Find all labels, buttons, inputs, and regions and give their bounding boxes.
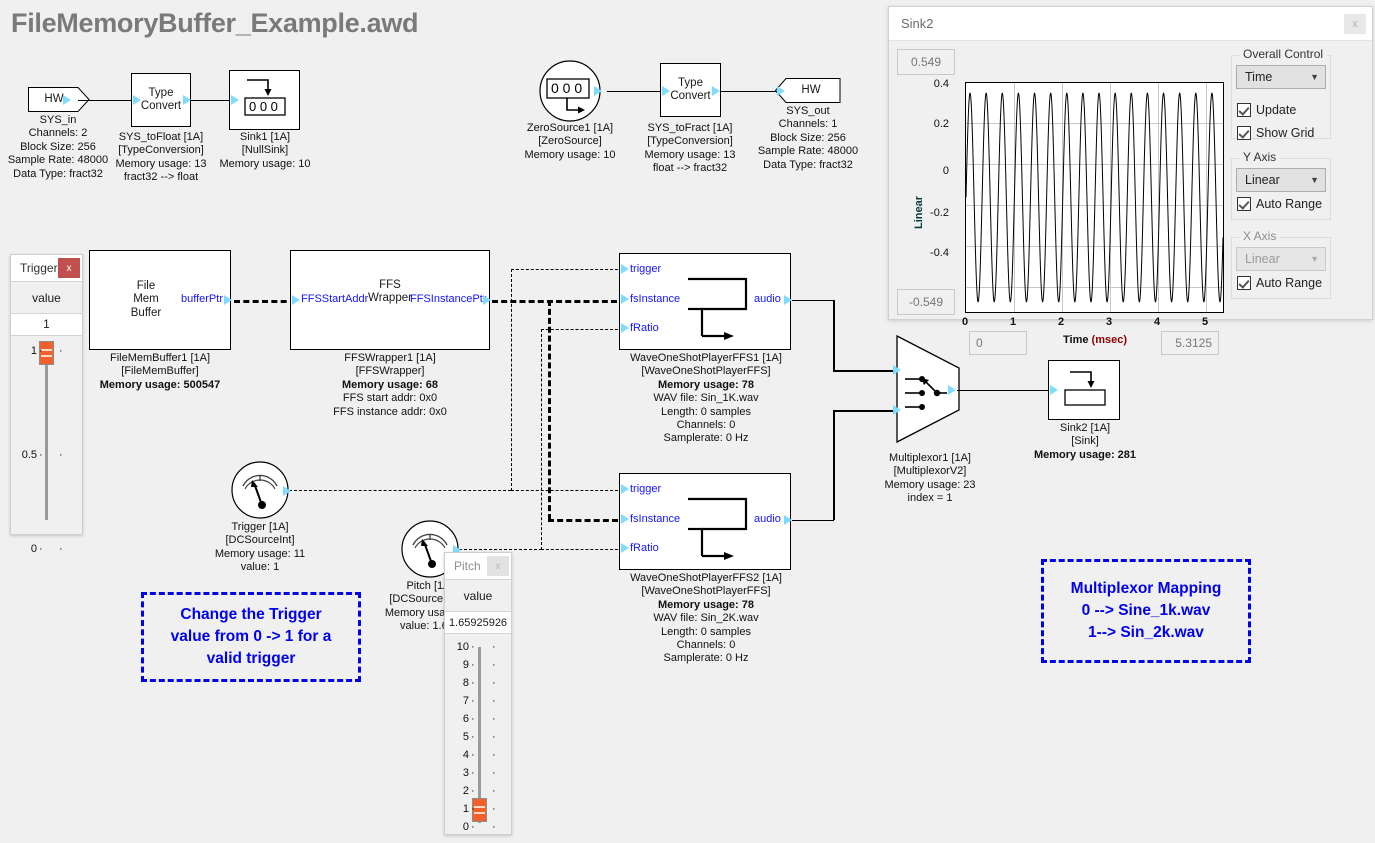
pitch-dot-1r: · bbox=[492, 803, 496, 815]
checkbox-y-auto-range[interactable]: Auto Range bbox=[1237, 197, 1322, 211]
overall-control-mode-value: Time bbox=[1245, 70, 1272, 84]
zerosource1-output-port[interactable] bbox=[594, 86, 602, 96]
sys-tofloat-input-port[interactable] bbox=[133, 95, 141, 105]
scope-ytick-0.2: 0.2 bbox=[917, 118, 949, 130]
sys-tofract-input-port[interactable] bbox=[662, 86, 670, 96]
trigger-source-output-port[interactable] bbox=[283, 486, 291, 496]
pitch-slider-panel[interactable]: Pitch x value 1.65925926 10 · · 9 · · 8 … bbox=[444, 552, 512, 835]
pitch-dot-4l: · bbox=[471, 749, 475, 761]
trigger-value-header: value bbox=[11, 281, 82, 314]
wire-wp2-audio-c bbox=[833, 410, 895, 412]
port-label-wp2-audio: audio bbox=[754, 513, 781, 525]
scope-xtick-5: 5 bbox=[1191, 316, 1219, 328]
wire-pitch-to-wp2 bbox=[541, 549, 618, 550]
trigger-tick-3: 0 bbox=[11, 543, 37, 555]
sys-tofract-label-1: Type bbox=[670, 77, 710, 90]
wire-wp1-audio-b bbox=[833, 300, 835, 372]
caption-waveplayer2: WaveOneShotPlayerFFS2 [1A] [WaveOneShotP… bbox=[620, 572, 792, 666]
scope-plot-area[interactable] bbox=[965, 82, 1224, 313]
page-title: FileMemoryBuffer_Example.awd bbox=[11, 8, 418, 39]
port-label-bufferptr: bufferPtr bbox=[181, 293, 223, 305]
show-grid-checkbox-label: Show Grid bbox=[1256, 126, 1314, 140]
pitch-panel-title: Pitch bbox=[454, 559, 481, 573]
checkbox-x-auto-range[interactable]: Auto Range bbox=[1237, 276, 1322, 290]
trigger-panel-titlebar: Trigger x bbox=[11, 255, 82, 281]
update-checkbox-label: Update bbox=[1256, 103, 1296, 117]
caption-zerosource1: ZeroSource1 [1A] [ZeroSource] Memory usa… bbox=[508, 122, 632, 162]
show-grid-checkbox-box[interactable] bbox=[1237, 126, 1251, 140]
note-trigger: Change the Trigger value from 0 -> 1 for… bbox=[141, 592, 361, 682]
pitch-dot-9r: · bbox=[492, 659, 496, 671]
y-axis-scale-value: Linear bbox=[1245, 173, 1280, 187]
chevron-down-icon-yaxis: ▼ bbox=[1310, 175, 1319, 185]
sys-tofloat-output-port[interactable] bbox=[183, 95, 191, 105]
filemembuffer1-output-port[interactable] bbox=[224, 295, 232, 305]
pitch-tick-8: 8 bbox=[445, 677, 469, 689]
trigger-panel-close-button[interactable]: x bbox=[58, 258, 80, 278]
trigger-tick-dot-3l: · bbox=[39, 543, 43, 555]
wire-wp1-audio-a bbox=[792, 300, 834, 302]
scope-xtick-2: 2 bbox=[1047, 316, 1075, 328]
scope-titlebar: Sink2 x bbox=[889, 7, 1372, 41]
scope-xtick-0: 0 bbox=[951, 316, 979, 328]
sys-in-output-port[interactable] bbox=[63, 95, 71, 105]
y-axis-scale-select[interactable]: Linear ▼ bbox=[1236, 168, 1326, 192]
pitch-tick-6: 6 bbox=[445, 713, 469, 725]
pitch-dot-10r: · bbox=[492, 641, 496, 653]
pitch-dot-0l: · bbox=[471, 821, 475, 833]
pitch-tick-7: 7 bbox=[445, 695, 469, 707]
scope-ytick-0: 0 bbox=[917, 165, 949, 177]
sys-out-label: HW bbox=[786, 84, 836, 96]
wire-trigger-v bbox=[511, 269, 512, 491]
overall-control-mode-select[interactable]: Time ▼ bbox=[1236, 65, 1326, 89]
sys-in-label: HW bbox=[28, 93, 80, 105]
ffswrapper1-output-port[interactable] bbox=[483, 295, 491, 305]
x-axis-scale-value: Linear bbox=[1245, 252, 1280, 266]
block-sink1[interactable]: 0 0 0 bbox=[229, 70, 300, 130]
scope-ytick--0.2: -0.2 bbox=[913, 207, 949, 219]
trigger-tick-2: 0.5 bbox=[11, 449, 37, 461]
port-label-wp1-fsinstance: fsInstance bbox=[630, 293, 680, 305]
pitch-panel-titlebar: Pitch x bbox=[445, 553, 511, 579]
sys-tofract-label-2: Convert bbox=[670, 90, 710, 103]
ffswrapper1-input-port[interactable] bbox=[292, 295, 300, 305]
caption-filemembuffer1: FileMemBuffer1 [1A] [FileMemBuffer] Memo… bbox=[90, 352, 230, 392]
wire-pitch-h1 bbox=[459, 549, 542, 550]
sys-tofract-output-port[interactable] bbox=[712, 86, 720, 96]
pitch-tick-0: 0 bbox=[445, 821, 469, 833]
pitch-tick-10: 10 bbox=[445, 641, 469, 653]
port-label-wp1-fratio: fRatio bbox=[630, 322, 659, 334]
x-axis-scale-select: Linear ▼ bbox=[1236, 247, 1326, 271]
pitch-value-field[interactable]: 1.65925926 bbox=[445, 612, 511, 634]
pitch-dot-1l: · bbox=[471, 803, 475, 815]
scope-waveform-svg bbox=[966, 83, 1223, 312]
checkbox-show-grid[interactable]: Show Grid bbox=[1237, 126, 1314, 140]
pitch-dot-2r: · bbox=[492, 785, 496, 797]
sys-out-input-port[interactable] bbox=[777, 86, 785, 96]
caption-multiplexor1: Multiplexor1 [1A] [MultiplexorV2] Memory… bbox=[868, 452, 992, 506]
scope-x-axis-label: Time (msec) bbox=[1035, 334, 1155, 346]
trigger-tick-dot-2r: · bbox=[59, 449, 63, 461]
waveplayer1-fsinstance-port[interactable] bbox=[621, 294, 629, 304]
pitch-tick-9: 9 bbox=[445, 659, 469, 671]
group-y-axis-title: Y Axis bbox=[1239, 150, 1280, 164]
caption-sys-in: SYS_in Channels: 2 Block Size: 256 Sampl… bbox=[0, 114, 116, 181]
waveplayer2-trigger-port[interactable] bbox=[621, 484, 629, 494]
scope-trace bbox=[966, 93, 1223, 302]
multiplexor-output-port[interactable] bbox=[948, 385, 956, 395]
trigger-slider[interactable]: 1 · · 0.5 · · 0 · · bbox=[11, 336, 82, 534]
pitch-dot-0r: · bbox=[492, 821, 496, 833]
pitch-dot-3r: · bbox=[492, 767, 496, 779]
waveplayer1-fratio-port[interactable] bbox=[621, 323, 629, 333]
sys-tofloat-label-2: Convert bbox=[141, 100, 181, 113]
port-label-wp2-fsinstance: fsInstance bbox=[630, 513, 680, 525]
wire-tofract-sysout bbox=[721, 91, 778, 93]
caption-sink2: Sink2 [1A] [Sink] Memory usage: 281 bbox=[1026, 422, 1144, 462]
pitch-tick-1: 1 bbox=[445, 803, 469, 815]
pitch-dot-5l: · bbox=[471, 731, 475, 743]
sink1-input-port[interactable] bbox=[231, 95, 239, 105]
y-auto-range-checkbox-box[interactable] bbox=[1237, 197, 1251, 211]
waveplayer2-fratio-port[interactable] bbox=[621, 543, 629, 553]
caption-sink1: Sink1 [1A] [NullSink] Memory usage: 10 bbox=[206, 131, 324, 171]
zerosource-icon: 0 0 0 bbox=[539, 60, 601, 122]
wire-ffsinst-branch2 bbox=[548, 519, 618, 522]
port-label-wp1-audio: audio bbox=[754, 293, 781, 305]
pitch-tick-3: 3 bbox=[445, 767, 469, 779]
caption-trigger-source: Trigger [1A] [DCSourceInt] Memory usage:… bbox=[200, 521, 320, 575]
scope-ytick--0.4: -0.4 bbox=[913, 247, 949, 259]
group-x-axis-title: X Axis bbox=[1239, 229, 1280, 243]
pitch-dot-7r: · bbox=[492, 695, 496, 707]
gauge-icon-trigger bbox=[231, 461, 289, 519]
caption-waveplayer1: WaveOneShotPlayerFFS1 [1A] [WaveOneShotP… bbox=[620, 352, 792, 446]
pitch-dot-7l: · bbox=[471, 695, 475, 707]
trigger-tick-dot-3r: · bbox=[59, 543, 63, 555]
scope-window-sink2[interactable]: Sink2 x 0.549 -0.549 0 5.3125 Linear 0.4… bbox=[888, 6, 1373, 320]
sys-tofloat-label-1: Type bbox=[141, 87, 181, 100]
pitch-dot-6r: · bbox=[492, 713, 496, 725]
pitch-tick-2: 2 bbox=[445, 785, 469, 797]
wire-ffsinst-down bbox=[548, 300, 551, 520]
sink2-input-port[interactable] bbox=[1050, 385, 1058, 395]
pitch-dot-8r: · bbox=[492, 677, 496, 689]
wire-trigger-to-wp2 bbox=[511, 490, 618, 491]
scope-xtick-4: 4 bbox=[1143, 316, 1171, 328]
scope-xtick-3: 3 bbox=[1095, 316, 1123, 328]
wire-trigger-h1 bbox=[289, 490, 511, 491]
note-multiplexor-mapping: Multiplexor Mapping 0 --> Sine_1k.wav 1-… bbox=[1041, 559, 1251, 663]
scope-y-max-readout[interactable]: 0.549 bbox=[897, 49, 955, 75]
scope-y-min-readout[interactable]: -0.549 bbox=[897, 289, 955, 315]
pitch-tick-5: 5 bbox=[445, 731, 469, 743]
wire-pitch-v bbox=[541, 329, 542, 550]
pitch-value-header: value bbox=[445, 579, 511, 612]
wire-wp2-audio-a bbox=[792, 520, 834, 522]
svg-text:0 0 0: 0 0 0 bbox=[551, 80, 582, 96]
multiplexor-input1-port[interactable] bbox=[893, 365, 901, 375]
pitch-dot-6l: · bbox=[471, 713, 475, 725]
port-label-ffsstartaddr: FFSStartAddr bbox=[301, 293, 368, 305]
x-auto-range-checkbox-label: Auto Range bbox=[1256, 276, 1322, 290]
wire-sysin-tofloat bbox=[78, 100, 134, 102]
pitch-dot-10l: · bbox=[471, 641, 475, 653]
caption-sys-tofloat: SYS_toFloat [1A] [TypeConversion] Memory… bbox=[100, 131, 222, 185]
svg-text:0 0 0: 0 0 0 bbox=[249, 99, 278, 114]
port-label-wp2-fratio: fRatio bbox=[630, 542, 659, 554]
pitch-dot-5r: · bbox=[492, 731, 496, 743]
chevron-down-icon-overall: ▼ bbox=[1310, 72, 1319, 82]
block-sink2[interactable] bbox=[1048, 360, 1120, 420]
scope-x-max-readout[interactable]: 5.3125 bbox=[1161, 331, 1219, 355]
trigger-tick-1: 1 bbox=[11, 345, 37, 357]
caption-ffswrapper1: FFSWrapper1 [1A] [FFSWrapper] Memory usa… bbox=[290, 352, 490, 419]
port-label-wp2-trigger: trigger bbox=[630, 483, 661, 495]
pitch-dot-8l: · bbox=[471, 677, 475, 689]
pitch-slider[interactable]: 10 · · 9 · · 8 · · 7 · · 6 · · 5 · · 4 ·… bbox=[445, 634, 511, 834]
scope-close-button[interactable]: x bbox=[1344, 14, 1366, 34]
waveplayer2-fsinstance-port[interactable] bbox=[621, 514, 629, 524]
pitch-slider-track[interactable] bbox=[478, 647, 481, 823]
wire-wp1-audio-c bbox=[833, 370, 895, 372]
port-label-ffsinstanceptr: FFSInstancePtr bbox=[410, 293, 486, 305]
pitch-dot-3l: · bbox=[471, 767, 475, 779]
wire-pitch-to-wp1 bbox=[541, 329, 618, 330]
waveplayer1-trigger-port[interactable] bbox=[621, 264, 629, 274]
multiplexor-input2-port[interactable] bbox=[893, 405, 901, 415]
sink-icon bbox=[1054, 367, 1114, 413]
nullsink-icon: 0 0 0 bbox=[235, 77, 295, 123]
port-label-wp1-trigger: trigger bbox=[630, 263, 661, 275]
pitch-panel-close-button[interactable]: x bbox=[487, 556, 509, 576]
caption-sys-tofract: SYS_toFract [1A] [TypeConversion] Memory… bbox=[628, 122, 752, 176]
wire-zerosource-tofract bbox=[607, 91, 662, 93]
scope-ytick-0.4: 0.4 bbox=[917, 78, 949, 90]
waveplayer1-audio-port[interactable] bbox=[784, 295, 792, 305]
group-overall-control-title: Overall Control bbox=[1239, 47, 1327, 61]
pitch-tick-4: 4 bbox=[445, 749, 469, 761]
scope-title: Sink2 bbox=[901, 16, 934, 31]
scope-body: 0.549 -0.549 0 5.3125 Linear 0.4 0.2 0 -… bbox=[889, 41, 1372, 319]
scope-xtick-1: 1 bbox=[999, 316, 1027, 328]
trigger-value-field[interactable]: 1 bbox=[11, 314, 82, 336]
checkbox-update[interactable]: Update bbox=[1237, 103, 1296, 117]
trigger-tick-dot-1l: · bbox=[39, 345, 43, 357]
wire-wp2-audio-b bbox=[833, 410, 835, 520]
wire-bufferptr-ffsstart bbox=[234, 300, 296, 303]
trigger-panel-title: Trigger bbox=[20, 261, 58, 275]
wire-mux-sink2 bbox=[957, 390, 1048, 392]
pitch-dot-4r: · bbox=[492, 749, 496, 761]
pitch-dot-2l: · bbox=[471, 785, 475, 797]
trigger-slider-track[interactable] bbox=[45, 351, 48, 520]
pitch-dot-9l: · bbox=[471, 659, 475, 671]
trigger-tick-dot-1r: · bbox=[59, 345, 63, 357]
chevron-down-icon-xaxis: ▼ bbox=[1310, 254, 1319, 264]
trigger-slider-panel[interactable]: Trigger x value 1 1 · · 0.5 · · 0 · · bbox=[10, 254, 83, 535]
waveplayer2-audio-port[interactable] bbox=[784, 515, 792, 525]
scope-x-min-readout[interactable]: 0 bbox=[969, 331, 1027, 355]
wire-tofloat-sink1 bbox=[191, 100, 233, 102]
trigger-tick-dot-2l: · bbox=[39, 449, 43, 461]
x-auto-range-checkbox-box[interactable] bbox=[1237, 276, 1251, 290]
schematic-canvas: FileMemoryBuffer_Example.awd HW SYS_in C… bbox=[0, 0, 1375, 843]
y-auto-range-checkbox-label: Auto Range bbox=[1256, 197, 1322, 211]
caption-sys-out: SYS_out Channels: 1 Block Size: 256 Samp… bbox=[750, 105, 866, 172]
update-checkbox-box[interactable] bbox=[1237, 103, 1251, 117]
wire-trigger-to-wp1 bbox=[511, 269, 618, 270]
